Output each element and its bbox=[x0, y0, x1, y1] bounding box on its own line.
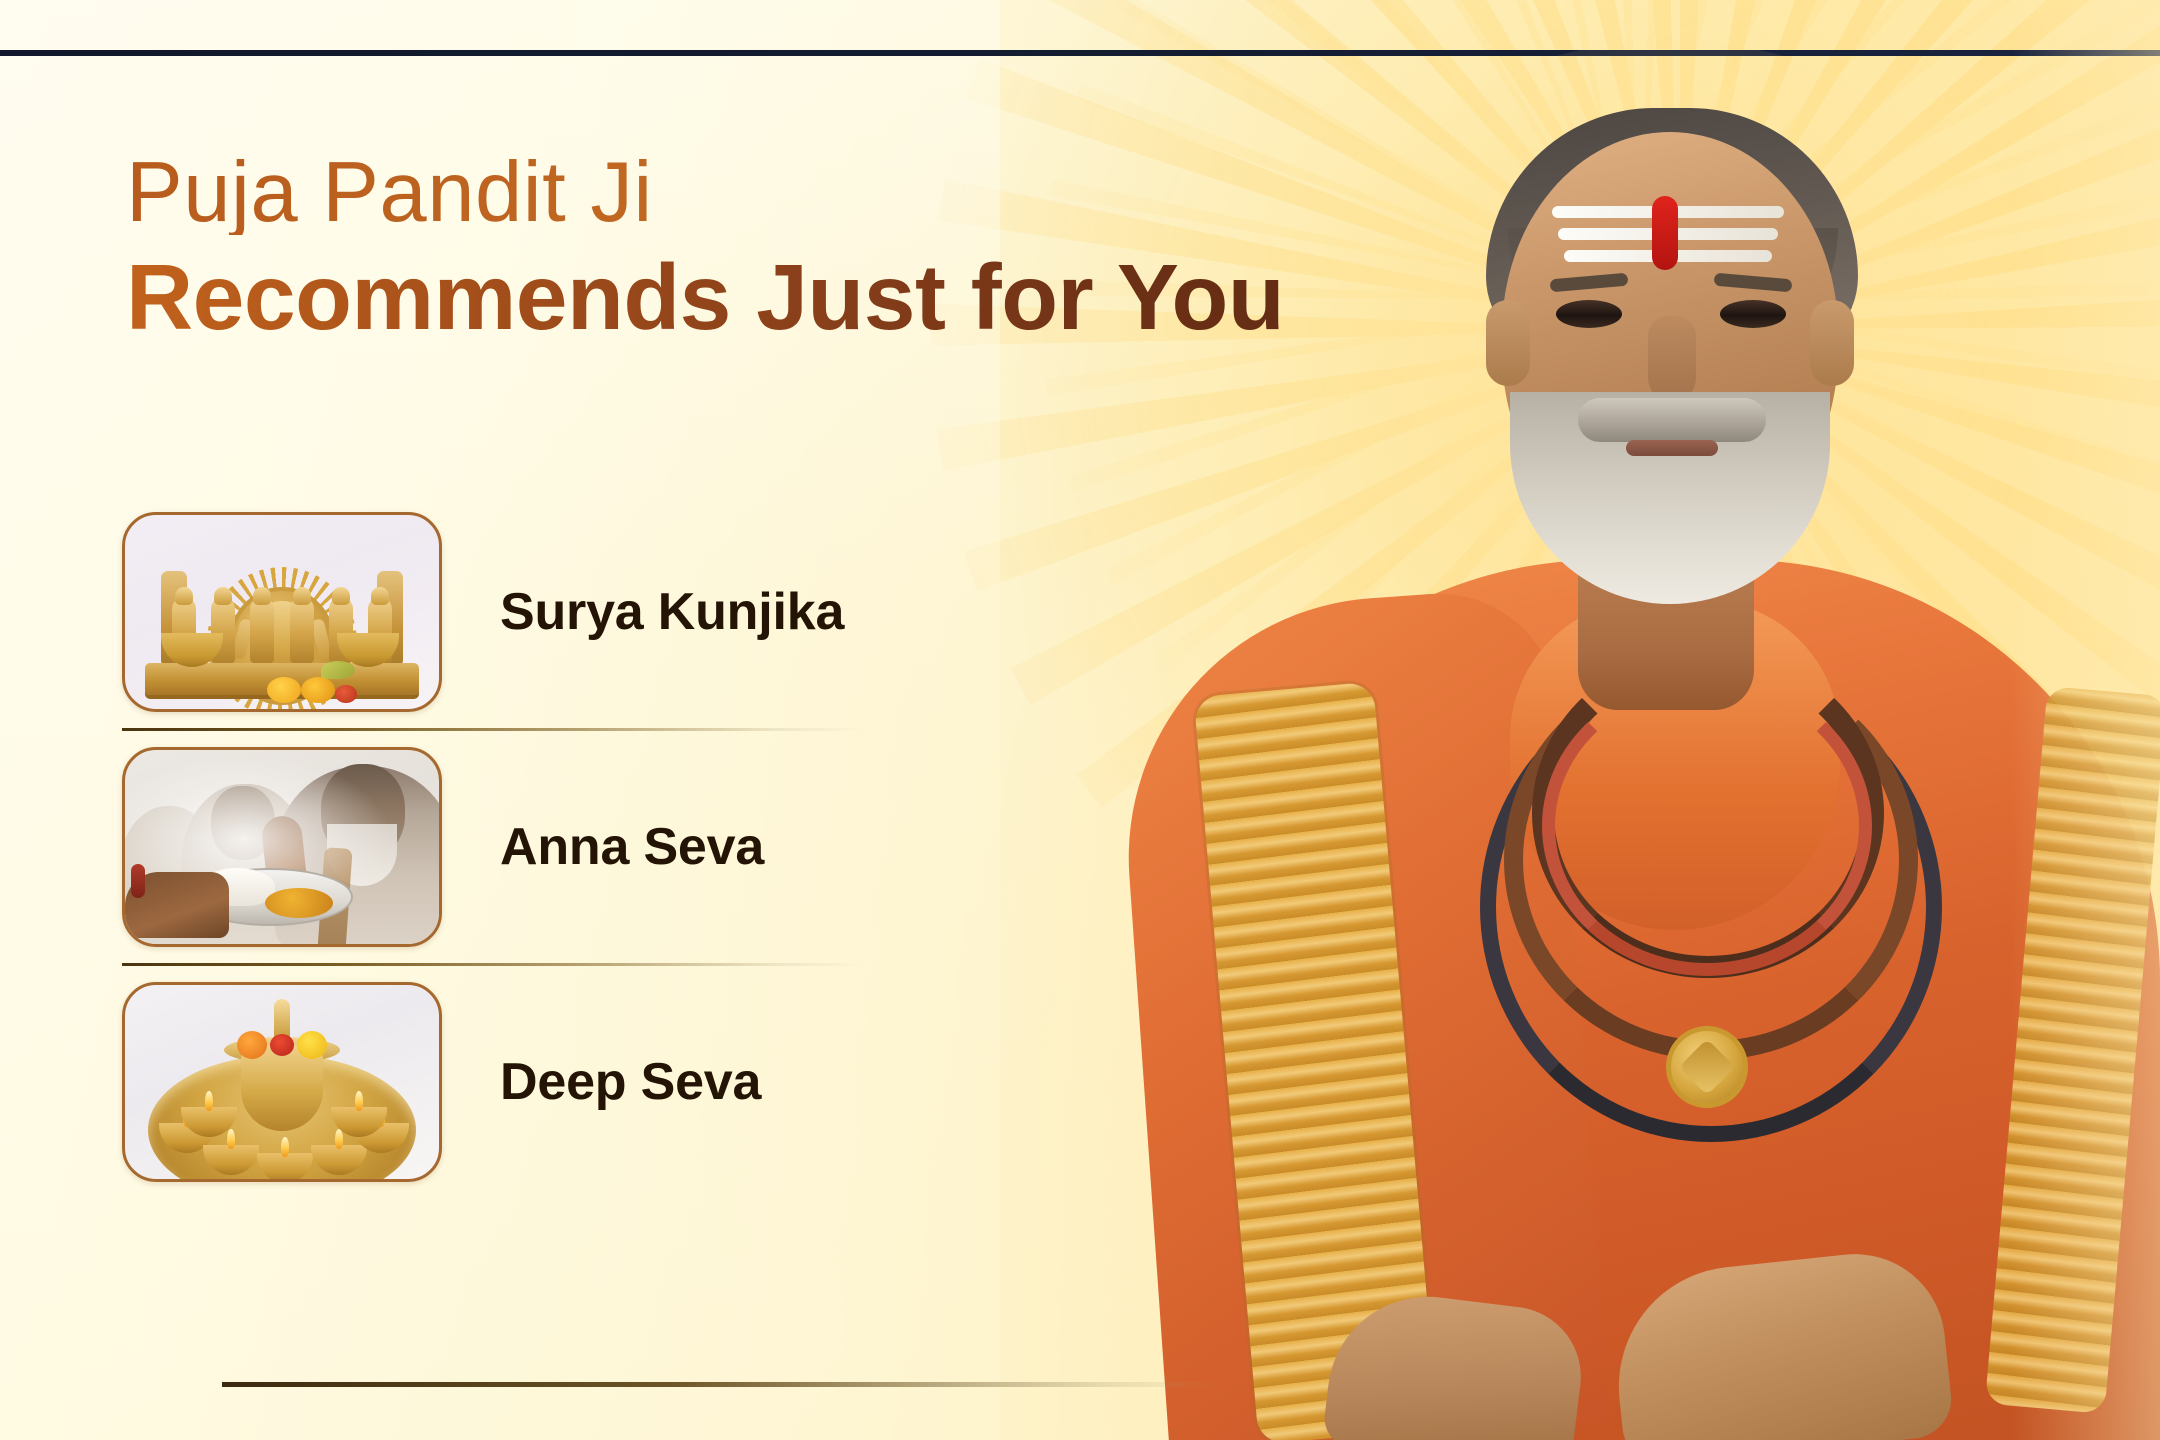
bangle-icon bbox=[131, 864, 145, 898]
list-divider bbox=[122, 728, 862, 731]
page-title-line1: Puja Pandit Ji bbox=[126, 150, 1526, 235]
pandit-mouth bbox=[1626, 440, 1718, 456]
pandit-eye-left bbox=[1556, 300, 1622, 328]
marigold-flower-icon bbox=[267, 677, 301, 703]
deep-seva-thumbnail[interactable] bbox=[122, 982, 442, 1182]
pandit-eye-right bbox=[1720, 300, 1786, 328]
page-title-line2: Recommends Just for You bbox=[126, 249, 1526, 346]
tilak-red-mark-icon bbox=[1652, 196, 1678, 270]
flower-cluster bbox=[216, 1027, 348, 1063]
recommendation-list: Surya Kunjika bbox=[122, 512, 982, 1182]
marigold-flower-icon bbox=[301, 677, 335, 703]
diya-lamp-icon bbox=[257, 1153, 313, 1182]
list-item-label: Surya Kunjika bbox=[500, 582, 844, 642]
marigold-flower-icon bbox=[237, 1031, 267, 1059]
horse-figure bbox=[290, 597, 314, 663]
mala-pendant-icon bbox=[1666, 1026, 1748, 1108]
bottom-divider-rule bbox=[222, 1382, 1222, 1387]
red-flower-icon bbox=[270, 1034, 294, 1056]
pandit-moustache bbox=[1578, 398, 1766, 442]
diya-lamp-icon bbox=[311, 1145, 367, 1175]
anna-seva-thumbnail[interactable] bbox=[122, 747, 442, 947]
mala-necklace-inner bbox=[1542, 676, 1872, 976]
list-item[interactable]: Anna Seva bbox=[122, 747, 982, 947]
pandit-nose bbox=[1648, 316, 1696, 402]
horse-figure bbox=[250, 597, 274, 663]
diya-lamp-icon bbox=[203, 1145, 259, 1175]
list-item-label: Deep Seva bbox=[500, 1052, 761, 1112]
pandit-ear-right bbox=[1810, 300, 1854, 386]
portrait-edge-fade bbox=[2012, 0, 2160, 1440]
list-item[interactable]: Surya Kunjika bbox=[122, 512, 982, 712]
surya-idol-thumbnail[interactable] bbox=[122, 512, 442, 712]
yellow-flower-icon bbox=[297, 1031, 327, 1059]
red-flower-icon bbox=[335, 685, 357, 703]
list-divider bbox=[122, 963, 862, 966]
heading-block: Puja Pandit Ji Recommends Just for You bbox=[126, 150, 1526, 346]
banner-root: Puja Pandit Ji Recommends Just for You bbox=[0, 0, 2160, 1440]
curry-serving bbox=[265, 888, 333, 918]
leaf-icon bbox=[321, 661, 355, 679]
list-item[interactable]: Deep Seva bbox=[122, 982, 982, 1182]
list-item-label: Anna Seva bbox=[500, 817, 764, 877]
